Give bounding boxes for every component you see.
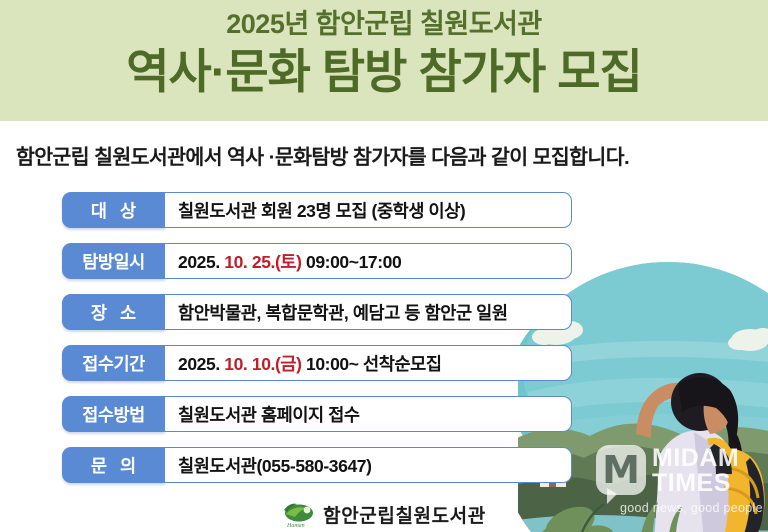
footer-library-logo: Haman 함안군립칠원도서관	[0, 499, 768, 529]
table-row: 문의 칠원도서관(055-580-3647)	[62, 447, 572, 483]
row-label-text: 장소	[78, 300, 149, 325]
row-label-inquiry: 문의	[62, 447, 165, 483]
header-subtitle-line: 2025년 함안군립 칠원도서관	[0, 7, 768, 41]
details-list: 대상 칠원도서관 회원 23명 모집 (중학생 이상) 탐방일시 2025. 1…	[62, 192, 572, 498]
haman-leaf-logo-icon: Haman	[282, 499, 316, 529]
row-label-text: 문의	[78, 453, 149, 478]
row-value-visit-date: 2025. 10. 25.(토) 09:00~17:00	[165, 243, 572, 279]
row-label-application-period: 접수기간	[62, 345, 165, 381]
page-title: 역사·문화 탐방 참가자 모집	[0, 43, 768, 101]
footer-library-name: 함안군립칠원도서관	[323, 501, 486, 528]
row-value-place: 함안박물관, 복합문학관, 예담고 등 함안군 일원	[165, 294, 572, 330]
row-label-text: 대상	[78, 198, 149, 223]
row-label-application-method: 접수방법	[62, 396, 165, 432]
row-label-target: 대상	[62, 192, 165, 228]
row-value-text: 칠원도서관(055-580-3647)	[178, 453, 372, 478]
row-value-text: 칠원도서관 회원 23명 모집 (중학생 이상)	[178, 198, 465, 223]
row-value-inquiry: 칠원도서관(055-580-3647)	[165, 447, 572, 483]
poster-header-band: 2025년 함안군립 칠원도서관 역사·문화 탐방 참가자 모집	[0, 0, 768, 121]
row-value-text: 2025. 10. 10.(금) 10:00~ 선착순모집	[178, 351, 442, 376]
row-value-application-period: 2025. 10. 10.(금) 10:00~ 선착순모집	[165, 345, 572, 381]
row-label-place: 장소	[62, 294, 165, 330]
row-label-visit-date: 탐방일시	[62, 243, 165, 279]
intro-sentence: 함안군립 칠원도서관에서 역사 ·문화탐방 참가자를 다음과 같이 모집합니다.	[16, 140, 756, 170]
row-label-text: 접수기간	[82, 351, 144, 376]
table-row: 장소 함안박물관, 복합문학관, 예담고 등 함안군 일원	[62, 294, 572, 330]
row-value-application-method: 칠원도서관 홈페이지 접수	[165, 396, 572, 432]
svg-text:Haman: Haman	[286, 523, 305, 529]
table-row: 탐방일시 2025. 10. 25.(토) 09:00~17:00	[62, 243, 572, 279]
poster-canvas: 2025년 함안군립 칠원도서관 역사·문화 탐방 참가자 모집 함안군립 칠원…	[0, 0, 768, 532]
row-value-text: 함안박물관, 복합문학관, 예담고 등 함안군 일원	[178, 300, 508, 325]
table-row: 접수기간 2025. 10. 10.(금) 10:00~ 선착순모집	[62, 345, 572, 381]
row-label-text: 탐방일시	[82, 249, 144, 274]
row-label-text: 접수방법	[82, 402, 144, 427]
row-value-text: 2025. 10. 25.(토) 09:00~17:00	[178, 249, 401, 274]
table-row: 대상 칠원도서관 회원 23명 모집 (중학생 이상)	[62, 192, 572, 228]
table-row: 접수방법 칠원도서관 홈페이지 접수	[62, 396, 572, 432]
row-value-text: 칠원도서관 홈페이지 접수	[178, 402, 360, 427]
row-value-target: 칠원도서관 회원 23명 모집 (중학생 이상)	[165, 192, 572, 228]
